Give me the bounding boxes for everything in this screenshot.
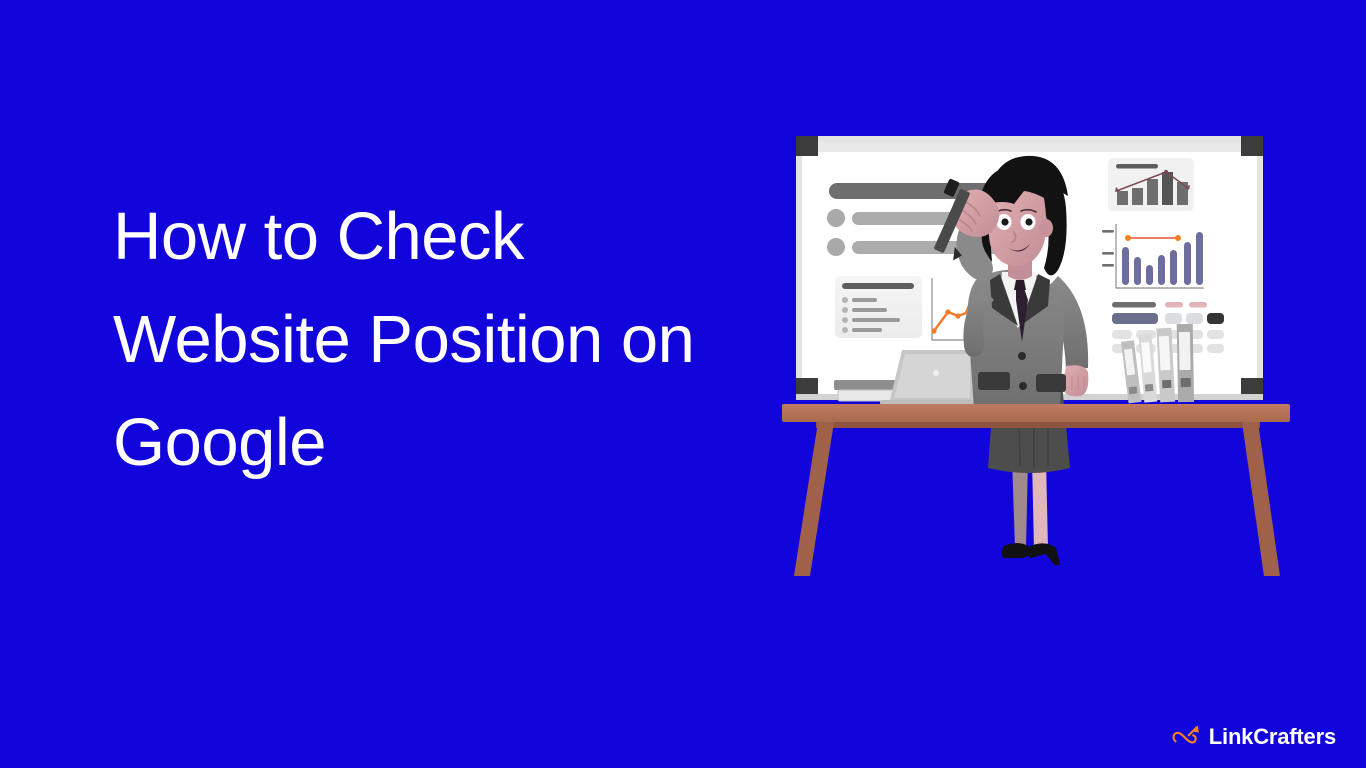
brand-logo[interactable]: LinkCrafters — [1172, 724, 1336, 750]
person-shoe-back — [1002, 543, 1030, 558]
board-checklist-card — [835, 276, 922, 338]
banner-background: How to Check Website Position on Google — [0, 0, 1366, 768]
person-button-2 — [1019, 382, 1027, 390]
link-arrow-icon — [1172, 724, 1202, 750]
brand-name: LinkCrafters — [1209, 726, 1336, 748]
person-shoe-front — [1027, 543, 1060, 565]
board-bullet-1 — [827, 209, 845, 227]
desk-leg-right — [1242, 422, 1280, 576]
person-button-1 — [1018, 352, 1026, 360]
board-bar-chart-card — [1108, 158, 1194, 211]
board-corner-tr — [1241, 136, 1263, 156]
person-pocket-left — [978, 372, 1010, 390]
page-title: How to Check Website Position on Google — [113, 185, 813, 494]
desk-leg-left — [794, 422, 834, 576]
board-corner-tl — [796, 136, 818, 156]
desk-apron — [816, 422, 1260, 428]
person-ear — [1039, 219, 1053, 237]
desk-top — [782, 404, 1290, 422]
person-pocket-right — [1036, 374, 1066, 392]
board-bullet-2 — [827, 238, 845, 256]
illustration-woman-presenting — [780, 128, 1300, 578]
